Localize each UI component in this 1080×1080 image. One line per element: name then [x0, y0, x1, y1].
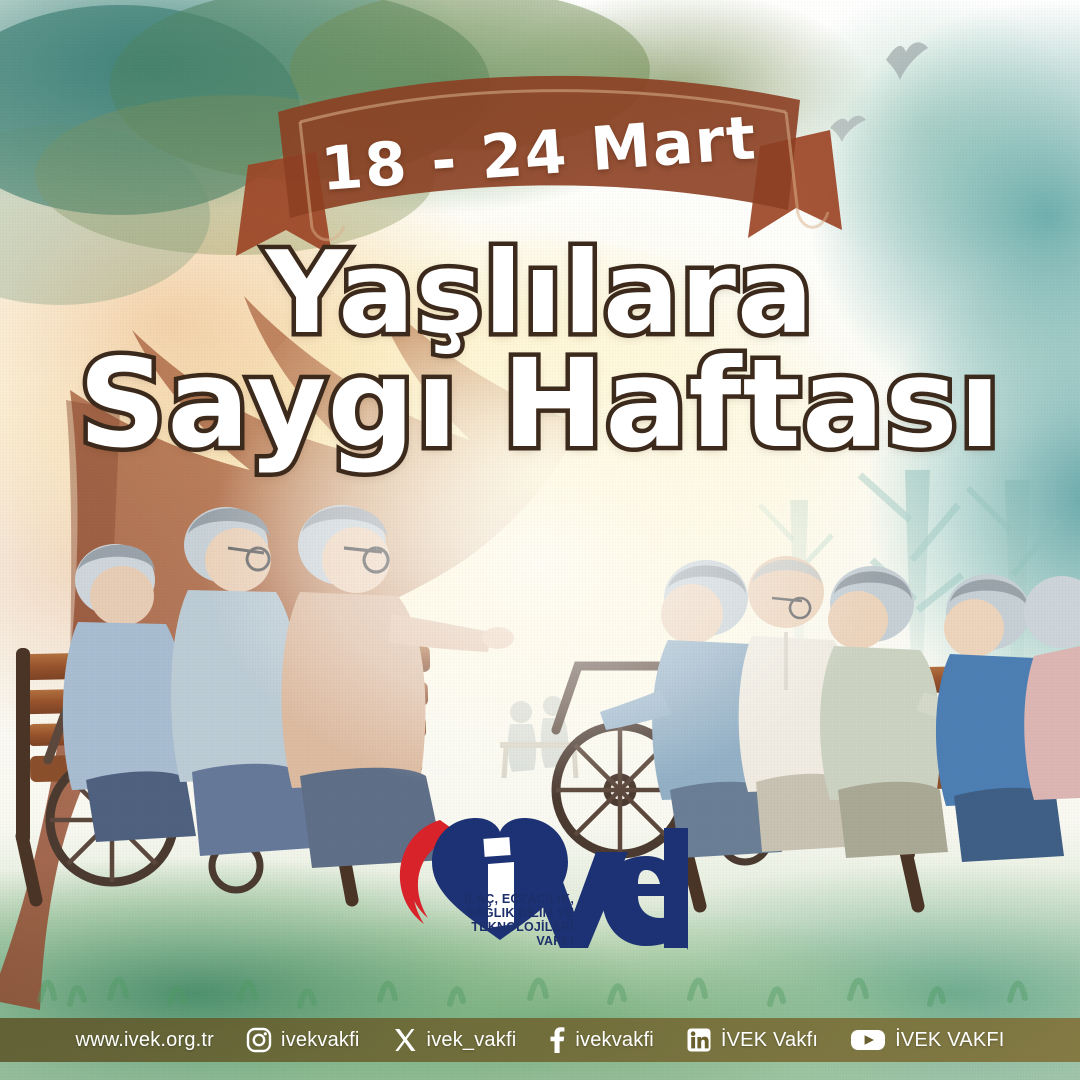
footer-item-instagram[interactable]: ivekvakfi: [230, 1027, 376, 1053]
footer-item-linkedin[interactable]: İVEK Vakfı: [670, 1027, 834, 1053]
social-footer-bar: www.ivek.org.tr ivekvakfi ivek_vakfi ive…: [0, 1018, 1080, 1062]
poster-canvas: 18 - 24 Mart Yaşlılara Saygı Haftası İLA…: [0, 0, 1080, 1080]
facebook-label: ivekvakfi: [575, 1029, 654, 1052]
instagram-icon: [246, 1027, 272, 1053]
website-label: www.ivek.org.tr: [75, 1029, 214, 1052]
x-twitter-icon: [392, 1027, 418, 1053]
x-label: ivek_vakfi: [427, 1029, 517, 1052]
youtube-label: İVEK VAKFI: [895, 1029, 1004, 1052]
instagram-label: ivekvakfi: [281, 1029, 360, 1052]
footer-item-website[interactable]: www.ivek.org.tr: [59, 1029, 230, 1052]
ribbon-date-label: 18 - 24 Mart: [319, 103, 760, 205]
facebook-icon: [548, 1027, 566, 1053]
footer-item-facebook[interactable]: ivekvakfi: [532, 1027, 670, 1053]
footer-item-x[interactable]: ivek_vakfi: [376, 1027, 533, 1053]
headline-line-2: Saygı Haftası: [0, 344, 1080, 465]
youtube-icon: [850, 1027, 886, 1053]
ivek-logo: İLAÇ, ECZACILIK, SAĞLIK BİLİM VE TEKNOLO…: [388, 800, 688, 965]
footer-item-youtube[interactable]: İVEK VAKFI: [834, 1027, 1020, 1053]
linkedin-label: İVEK Vakfı: [721, 1029, 818, 1052]
linkedin-icon: [686, 1027, 712, 1053]
logo-tagline: İLAÇ, ECZACILIK, SAĞLIK BİLİM VE TEKNOLO…: [386, 892, 574, 948]
headline-block: Yaşlılara Saygı Haftası: [0, 238, 1080, 465]
